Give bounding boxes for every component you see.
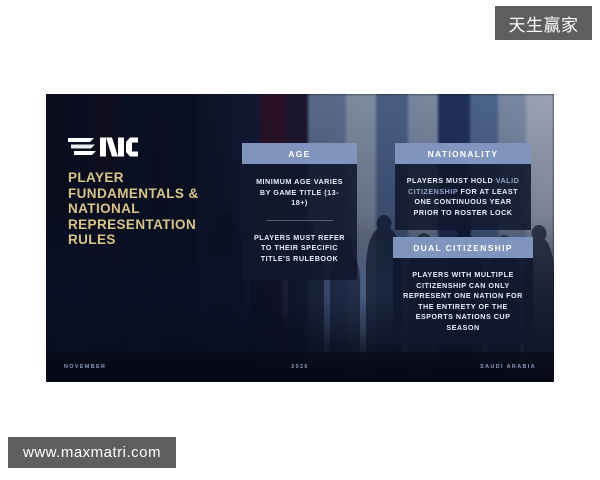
footer-month: NOVEMBER [64, 364, 106, 370]
card-age-text-2: PLAYERS MUST REFER TO THEIR SPECIFIC TIT… [252, 233, 347, 265]
card-age: AGE MINIMUM AGE VARIES BY GAME TITLE (13… [242, 143, 357, 280]
enc-logo [68, 136, 138, 158]
card-age-text-1: MINIMUM AGE VARIES BY GAME TITLE (13-18+… [252, 177, 347, 209]
footer-year: 2026 [291, 364, 309, 370]
card-nationality-body: PLAYERS MUST HOLD VALID CITIZENSHIP FOR … [395, 164, 531, 230]
card-dual-citizenship: DUAL CITIZENSHIP PLAYERS WITH MULTIPLE C… [393, 237, 533, 345]
slide-footer: NOVEMBER 2026 SAUDI ARABIA [46, 352, 554, 382]
footer-location: SAUDI ARABIA [480, 364, 536, 370]
slide-image: PLAYER FUNDAMENTALS & NATIONAL REPRESENT… [46, 94, 554, 382]
watermark-badge-top-right: 天生赢家 [495, 6, 592, 40]
watermark-badge-bottom-left: www.maxmatri.com [8, 437, 176, 468]
card-nationality-text-lead: PLAYERS MUST HOLD [407, 176, 496, 185]
card-age-title: AGE [242, 143, 357, 164]
card-age-body: MINIMUM AGE VARIES BY GAME TITLE (13-18+… [242, 164, 357, 280]
card-dual-citizenship-title: DUAL CITIZENSHIP [393, 237, 533, 258]
card-nationality-title: NATIONALITY [395, 143, 531, 164]
card-nationality: NATIONALITY PLAYERS MUST HOLD VALID CITI… [395, 143, 531, 230]
card-age-divider [266, 220, 333, 221]
card-dual-citizenship-body: PLAYERS WITH MULTIPLE CITIZENSHIP CAN ON… [393, 258, 533, 345]
page-title: PLAYER FUNDAMENTALS & NATIONAL REPRESENT… [68, 170, 238, 248]
